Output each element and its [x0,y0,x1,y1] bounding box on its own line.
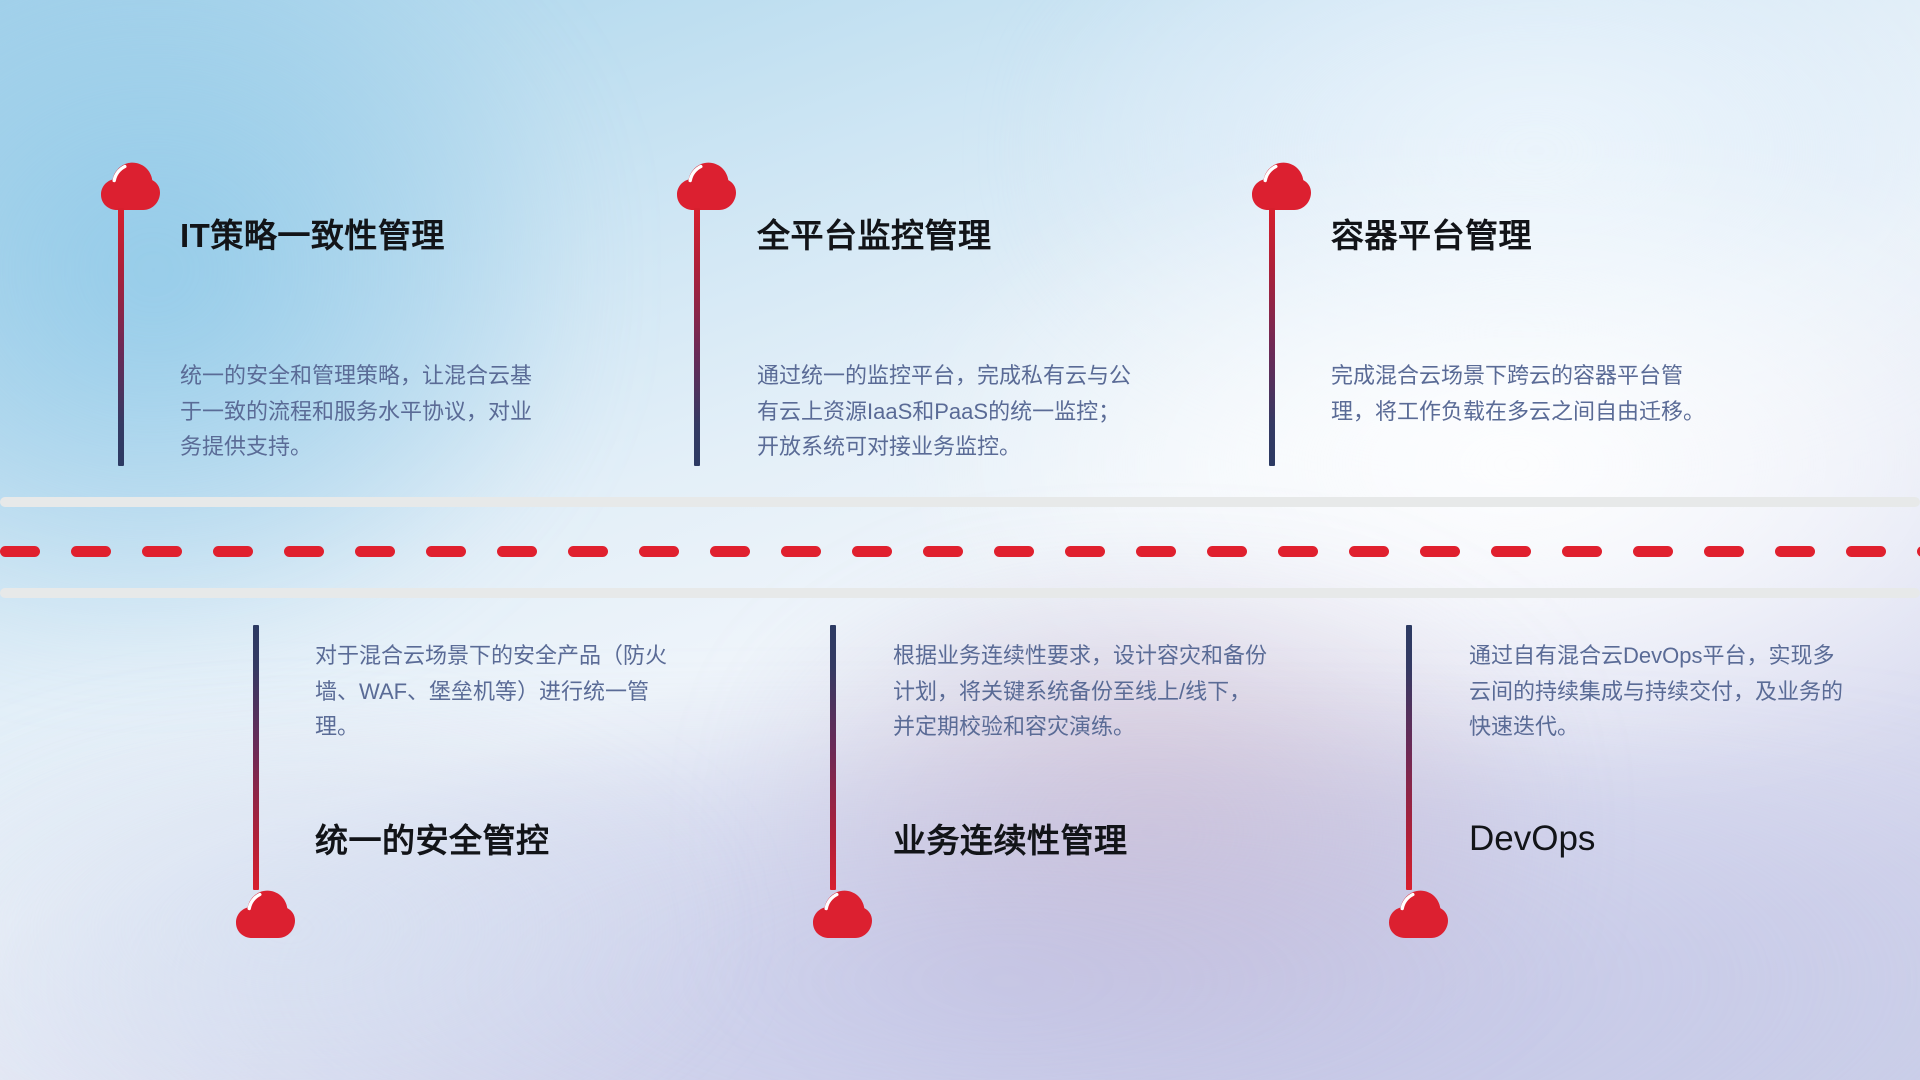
milestone-body: 对于混合云场景下的安全产品（防火墙、WAF、堡垒机等）进行统一管理。 [315,638,675,745]
milestone-stem [694,208,700,466]
milestone-body: 通过自有混合云DevOps平台，实现多云间的持续集成与持续交付，及业务的快速迭代… [1469,638,1844,745]
road-dash [71,546,111,557]
milestone-heading: 全平台监控管理 [757,218,992,254]
milestone-heading: IT策略一致性管理 [180,218,445,254]
road-dash [1846,546,1886,557]
road-dash [781,546,821,557]
road-dash [426,546,466,557]
road-dash [1349,546,1389,557]
road-dash [1065,546,1105,557]
road-dash [994,546,1034,557]
milestone-body: 统一的安全和管理策略，让混合云基于一致的流程和服务水平协议，对业务提供支持。 [180,358,540,465]
road-dash [1775,546,1815,557]
cloud-pin-icon [1387,888,1449,940]
road-dash [568,546,608,557]
road-dash [213,546,253,557]
milestone-body: 根据业务连续性要求，设计容灾和备份计划，将关键系统备份至线上/线下，并定期校验和… [893,638,1268,745]
milestone-body: 通过统一的监控平台，完成私有云与公有云上资源IaaS和PaaS的统一监控；开放系… [757,358,1132,465]
milestone-stem [118,208,124,466]
cloud-pin-icon [1250,160,1312,212]
road-edge-top [0,497,1920,507]
road-dash [639,546,679,557]
milestone-stem [1269,208,1275,466]
road-dash [1633,546,1673,557]
road-dash [1562,546,1602,557]
road-dash [923,546,963,557]
road-dash [1207,546,1247,557]
cloud-pin-icon [675,160,737,212]
cloud-pin-icon [99,160,161,212]
milestone-stem [830,625,836,890]
road-dash [0,546,40,557]
road-dash [1136,546,1176,557]
road-dash [284,546,324,557]
milestone-heading: DevOps [1469,820,1595,859]
cloud-pin-icon [811,888,873,940]
road-edge-bottom [0,588,1920,598]
background-glow-bottomleft [0,713,730,1080]
milestone-stem [253,625,259,890]
infographic-canvas: IT策略一致性管理 统一的安全和管理策略，让混合云基于一致的流程和服务水平协议，… [0,0,1920,1080]
road-dash [142,546,182,557]
milestone-heading: 业务连续性管理 [893,823,1128,859]
road-dash [1278,546,1318,557]
road-dash [1491,546,1531,557]
road-dash [497,546,537,557]
milestone-body: 完成混合云场景下跨云的容器平台管理，将工作负载在多云之间自由迁移。 [1331,358,1706,429]
cloud-pin-icon [234,888,296,940]
milestone-heading: 容器平台管理 [1331,218,1532,254]
road-center-dashes [0,546,1920,557]
road-dash [1704,546,1744,557]
road-dash [1420,546,1460,557]
road-dash [355,546,395,557]
road-dash [710,546,750,557]
road-dash [852,546,892,557]
milestone-heading: 统一的安全管控 [315,823,550,859]
milestone-stem [1406,625,1412,890]
